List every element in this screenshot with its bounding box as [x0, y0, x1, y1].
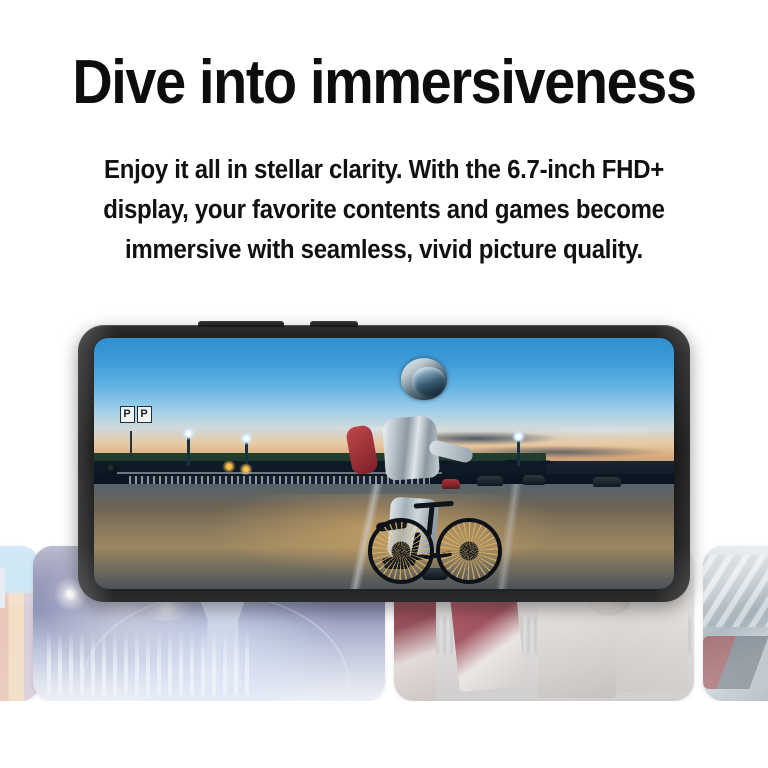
astronaut-cyclist: [332, 358, 506, 584]
front-camera-icon: [107, 464, 116, 473]
smartphone-device: P P: [78, 325, 690, 602]
bmx-bicycle: [374, 476, 510, 584]
description-line-2: display, your favorite contents and game…: [72, 190, 696, 230]
parking-sign: P P: [120, 406, 152, 423]
astronaut-backpack: [345, 424, 379, 476]
street-lamp-icon: [187, 433, 190, 466]
astronaut-visor: [412, 367, 446, 397]
bike-wheel-front: [436, 518, 502, 584]
page-title: Dive into immersiveness: [38, 48, 729, 118]
bike-wheel-rear: [368, 518, 434, 584]
description-line-3: immersive with seamless, vivid picture q…: [72, 230, 696, 270]
motorsport-artwork: [703, 546, 768, 701]
street-lamp-icon: [245, 438, 248, 466]
marketing-image-canvas: Dive into immersiveness Enjoy it all in …: [0, 0, 768, 768]
power-button[interactable]: [310, 321, 358, 327]
motorsport-thumbnail[interactable]: [703, 546, 768, 701]
street-lamp-icon: [517, 436, 520, 466]
phone-screen[interactable]: P P: [94, 338, 674, 589]
parking-sign-label-right: P: [137, 406, 152, 423]
parking-sign-post: [130, 431, 132, 461]
volume-rocker-button[interactable]: [198, 321, 284, 327]
description-line-1: Enjoy it all in stellar clarity. With th…: [72, 150, 696, 190]
warm-light: [222, 461, 236, 472]
parked-car: [523, 475, 545, 485]
strip-bottom-spacer: [0, 701, 768, 768]
parked-car: [593, 477, 621, 487]
description-paragraph: Enjoy it all in stellar clarity. With th…: [72, 150, 696, 270]
parking-sign-label-left: P: [120, 406, 135, 423]
